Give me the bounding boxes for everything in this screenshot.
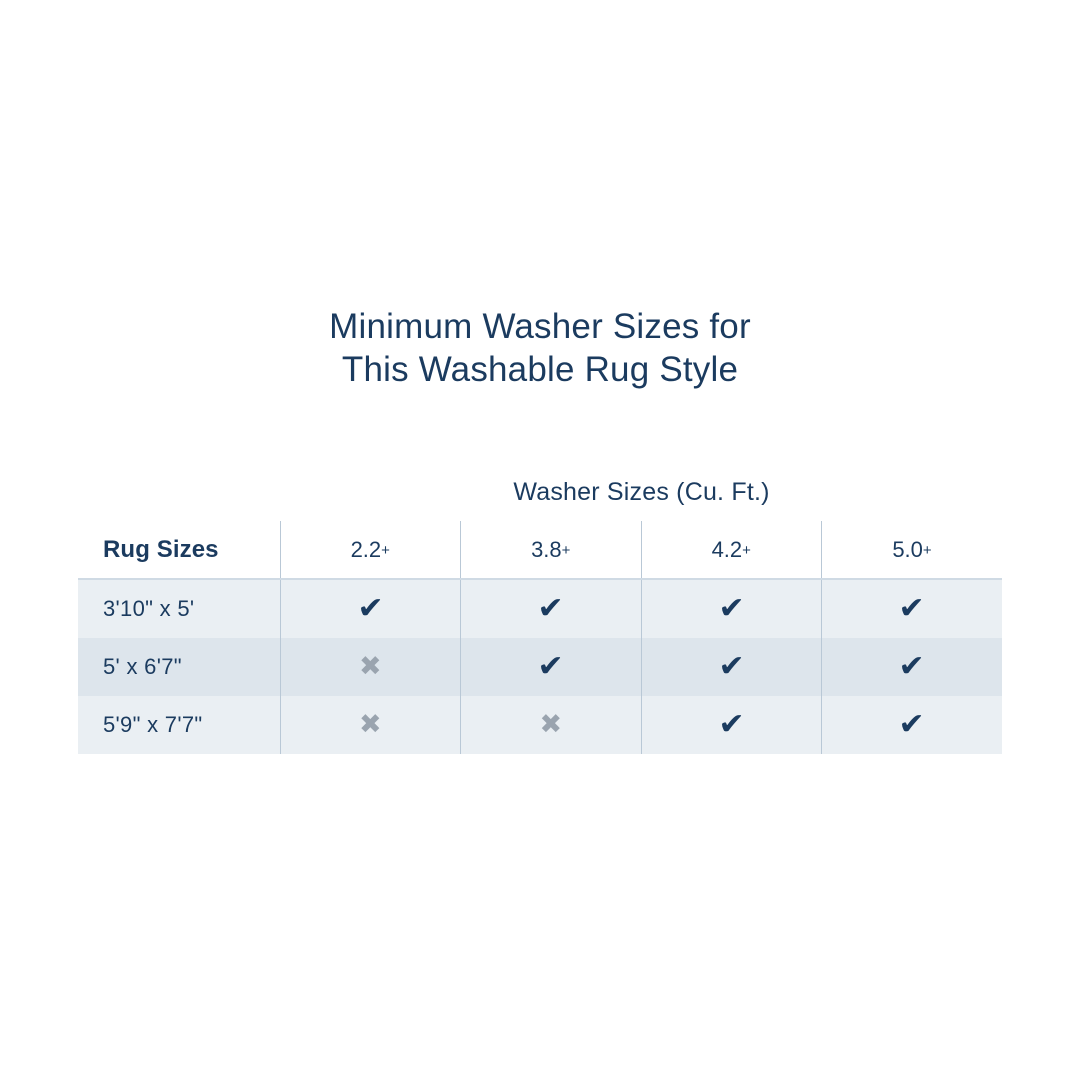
column-header-washer-1-plus: + [381,542,390,559]
compatibility-cell: ✔ [461,579,642,638]
check-icon: ✔ [718,652,744,682]
compatibility-cell: ✔ [641,696,822,754]
column-header-washer-3: 4.2+ [641,521,822,579]
washer-compatibility-table: Rug Sizes 2.2+ 3.8+ 4.2+ 5.0+ [78,521,1002,754]
column-header-washer-3-plus: + [742,542,751,559]
column-header-washer-2-value: 3.8 [531,537,562,562]
cross-icon: ✖ [359,653,382,680]
compatibility-cell: ✔ [461,638,642,696]
washer-sizes-subtitle: Washer Sizes (Cu. Ft.) [281,478,1002,507]
rug-size-label: 5' x 6'7" [78,638,280,696]
page-title: Minimum Washer Sizes for This Washable R… [0,305,1080,391]
compatibility-cell: ✔ [641,638,822,696]
compatibility-cell: ✔ [822,638,1003,696]
rug-size-label: 3'10" x 5' [78,579,280,638]
page-title-line-2: This Washable Rug Style [0,348,1080,391]
compatibility-cell: ✔ [641,579,822,638]
cross-icon: ✖ [539,711,562,738]
column-header-washer-1-value: 2.2 [351,537,382,562]
column-header-washer-4-value: 5.0 [892,537,923,562]
column-header-washer-2-plus: + [562,542,571,559]
check-icon: ✔ [718,594,744,624]
column-header-rug-sizes: Rug Sizes [78,521,280,579]
check-icon: ✔ [899,594,925,624]
compatibility-cell: ✔ [280,579,461,638]
check-icon: ✔ [538,652,564,682]
page-title-line-1: Minimum Washer Sizes for [0,305,1080,348]
washer-compatibility-table-wrapper: Rug Sizes 2.2+ 3.8+ 4.2+ 5.0+ [78,521,1002,754]
table-header: Rug Sizes 2.2+ 3.8+ 4.2+ 5.0+ [78,521,1002,579]
compatibility-cell: ✔ [822,579,1003,638]
table-row: 3'10" x 5' ✔ ✔ ✔ ✔ [78,579,1002,638]
column-header-washer-4: 5.0+ [822,521,1003,579]
check-icon: ✔ [357,594,383,624]
table-row: 5' x 6'7" ✖ ✔ ✔ ✔ [78,638,1002,696]
cross-icon: ✖ [359,711,382,738]
table-header-row: Rug Sizes 2.2+ 3.8+ 4.2+ 5.0+ [78,521,1002,579]
column-header-washer-4-plus: + [923,542,932,559]
check-icon: ✔ [899,652,925,682]
compatibility-cell: ✔ [822,696,1003,754]
rug-size-label: 5'9" x 7'7" [78,696,280,754]
column-header-washer-1: 2.2+ [280,521,461,579]
column-header-washer-3-value: 4.2 [712,537,743,562]
compatibility-cell: ✖ [280,696,461,754]
check-icon: ✔ [538,594,564,624]
table-row: 5'9" x 7'7" ✖ ✖ ✔ ✔ [78,696,1002,754]
page-root: Minimum Washer Sizes for This Washable R… [0,0,1080,1080]
check-icon: ✔ [718,710,744,740]
compatibility-cell: ✖ [280,638,461,696]
compatibility-cell: ✖ [461,696,642,754]
table-body: 3'10" x 5' ✔ ✔ ✔ ✔ 5' x 6'7" [78,579,1002,754]
check-icon: ✔ [899,710,925,740]
column-header-washer-2: 3.8+ [461,521,642,579]
